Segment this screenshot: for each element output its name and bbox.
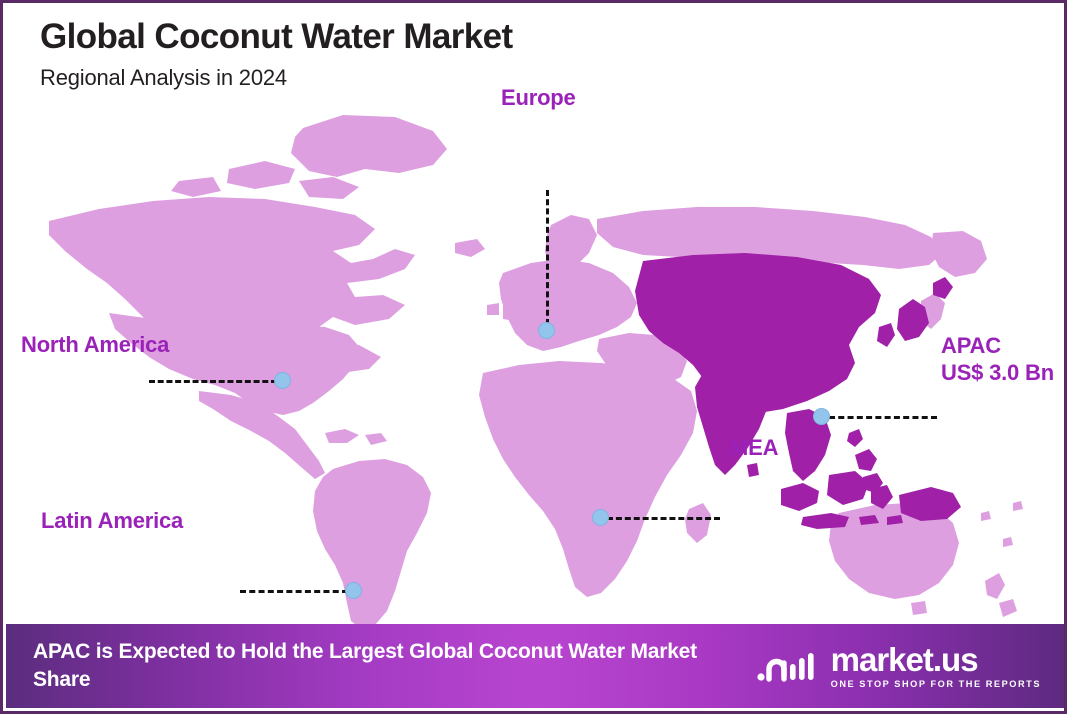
page-title: Global Coconut Water Market <box>40 17 940 57</box>
brand-wordmark: market.us ONE STOP SHOP FOR THE REPORTS <box>831 643 1041 689</box>
region-name-mea: MEA <box>730 435 778 460</box>
brand-logo[interactable]: market.us ONE STOP SHOP FOR THE REPORTS <box>757 643 1041 689</box>
footer-banner: APAC is Expected to Hold the Largest Glo… <box>6 624 1067 708</box>
brand-tagline: ONE STOP SHOP FOR THE REPORTS <box>831 680 1041 689</box>
marker-apac[interactable] <box>813 408 830 425</box>
region-name-europe: Europe <box>501 85 576 110</box>
marker-mea[interactable] <box>592 509 609 526</box>
region-label-latin-america[interactable]: Latin America <box>41 508 183 535</box>
region-label-apac[interactable]: APAC US$ 3.0 Bn <box>941 333 1054 387</box>
connector-europe <box>546 190 549 325</box>
marker-north-america[interactable] <box>274 372 291 389</box>
region-name-north-america: North America <box>21 332 169 357</box>
connector-north-america <box>149 380 277 383</box>
connector-mea <box>607 517 720 520</box>
brand-name: market.us <box>831 643 1041 676</box>
region-label-north-america[interactable]: North America <box>21 332 169 359</box>
region-label-europe[interactable]: Europe <box>501 85 576 112</box>
marker-latin-america[interactable] <box>345 582 362 599</box>
region-name-apac: APAC <box>941 333 1054 360</box>
connector-latin-america <box>240 590 348 593</box>
region-label-mea[interactable]: MEA <box>730 435 778 462</box>
footer-headline: APAC is Expected to Hold the Largest Glo… <box>33 638 733 693</box>
region-name-latin-america: Latin America <box>41 508 183 533</box>
marker-europe[interactable] <box>538 322 555 339</box>
region-value-apac: US$ 3.0 Bn <box>941 360 1054 387</box>
connector-apac <box>829 416 937 419</box>
infographic-frame: Global Coconut Water Market Regional Ana… <box>0 0 1067 714</box>
market-us-logo-icon <box>757 645 819 687</box>
map-base-landmasses <box>49 115 1023 629</box>
